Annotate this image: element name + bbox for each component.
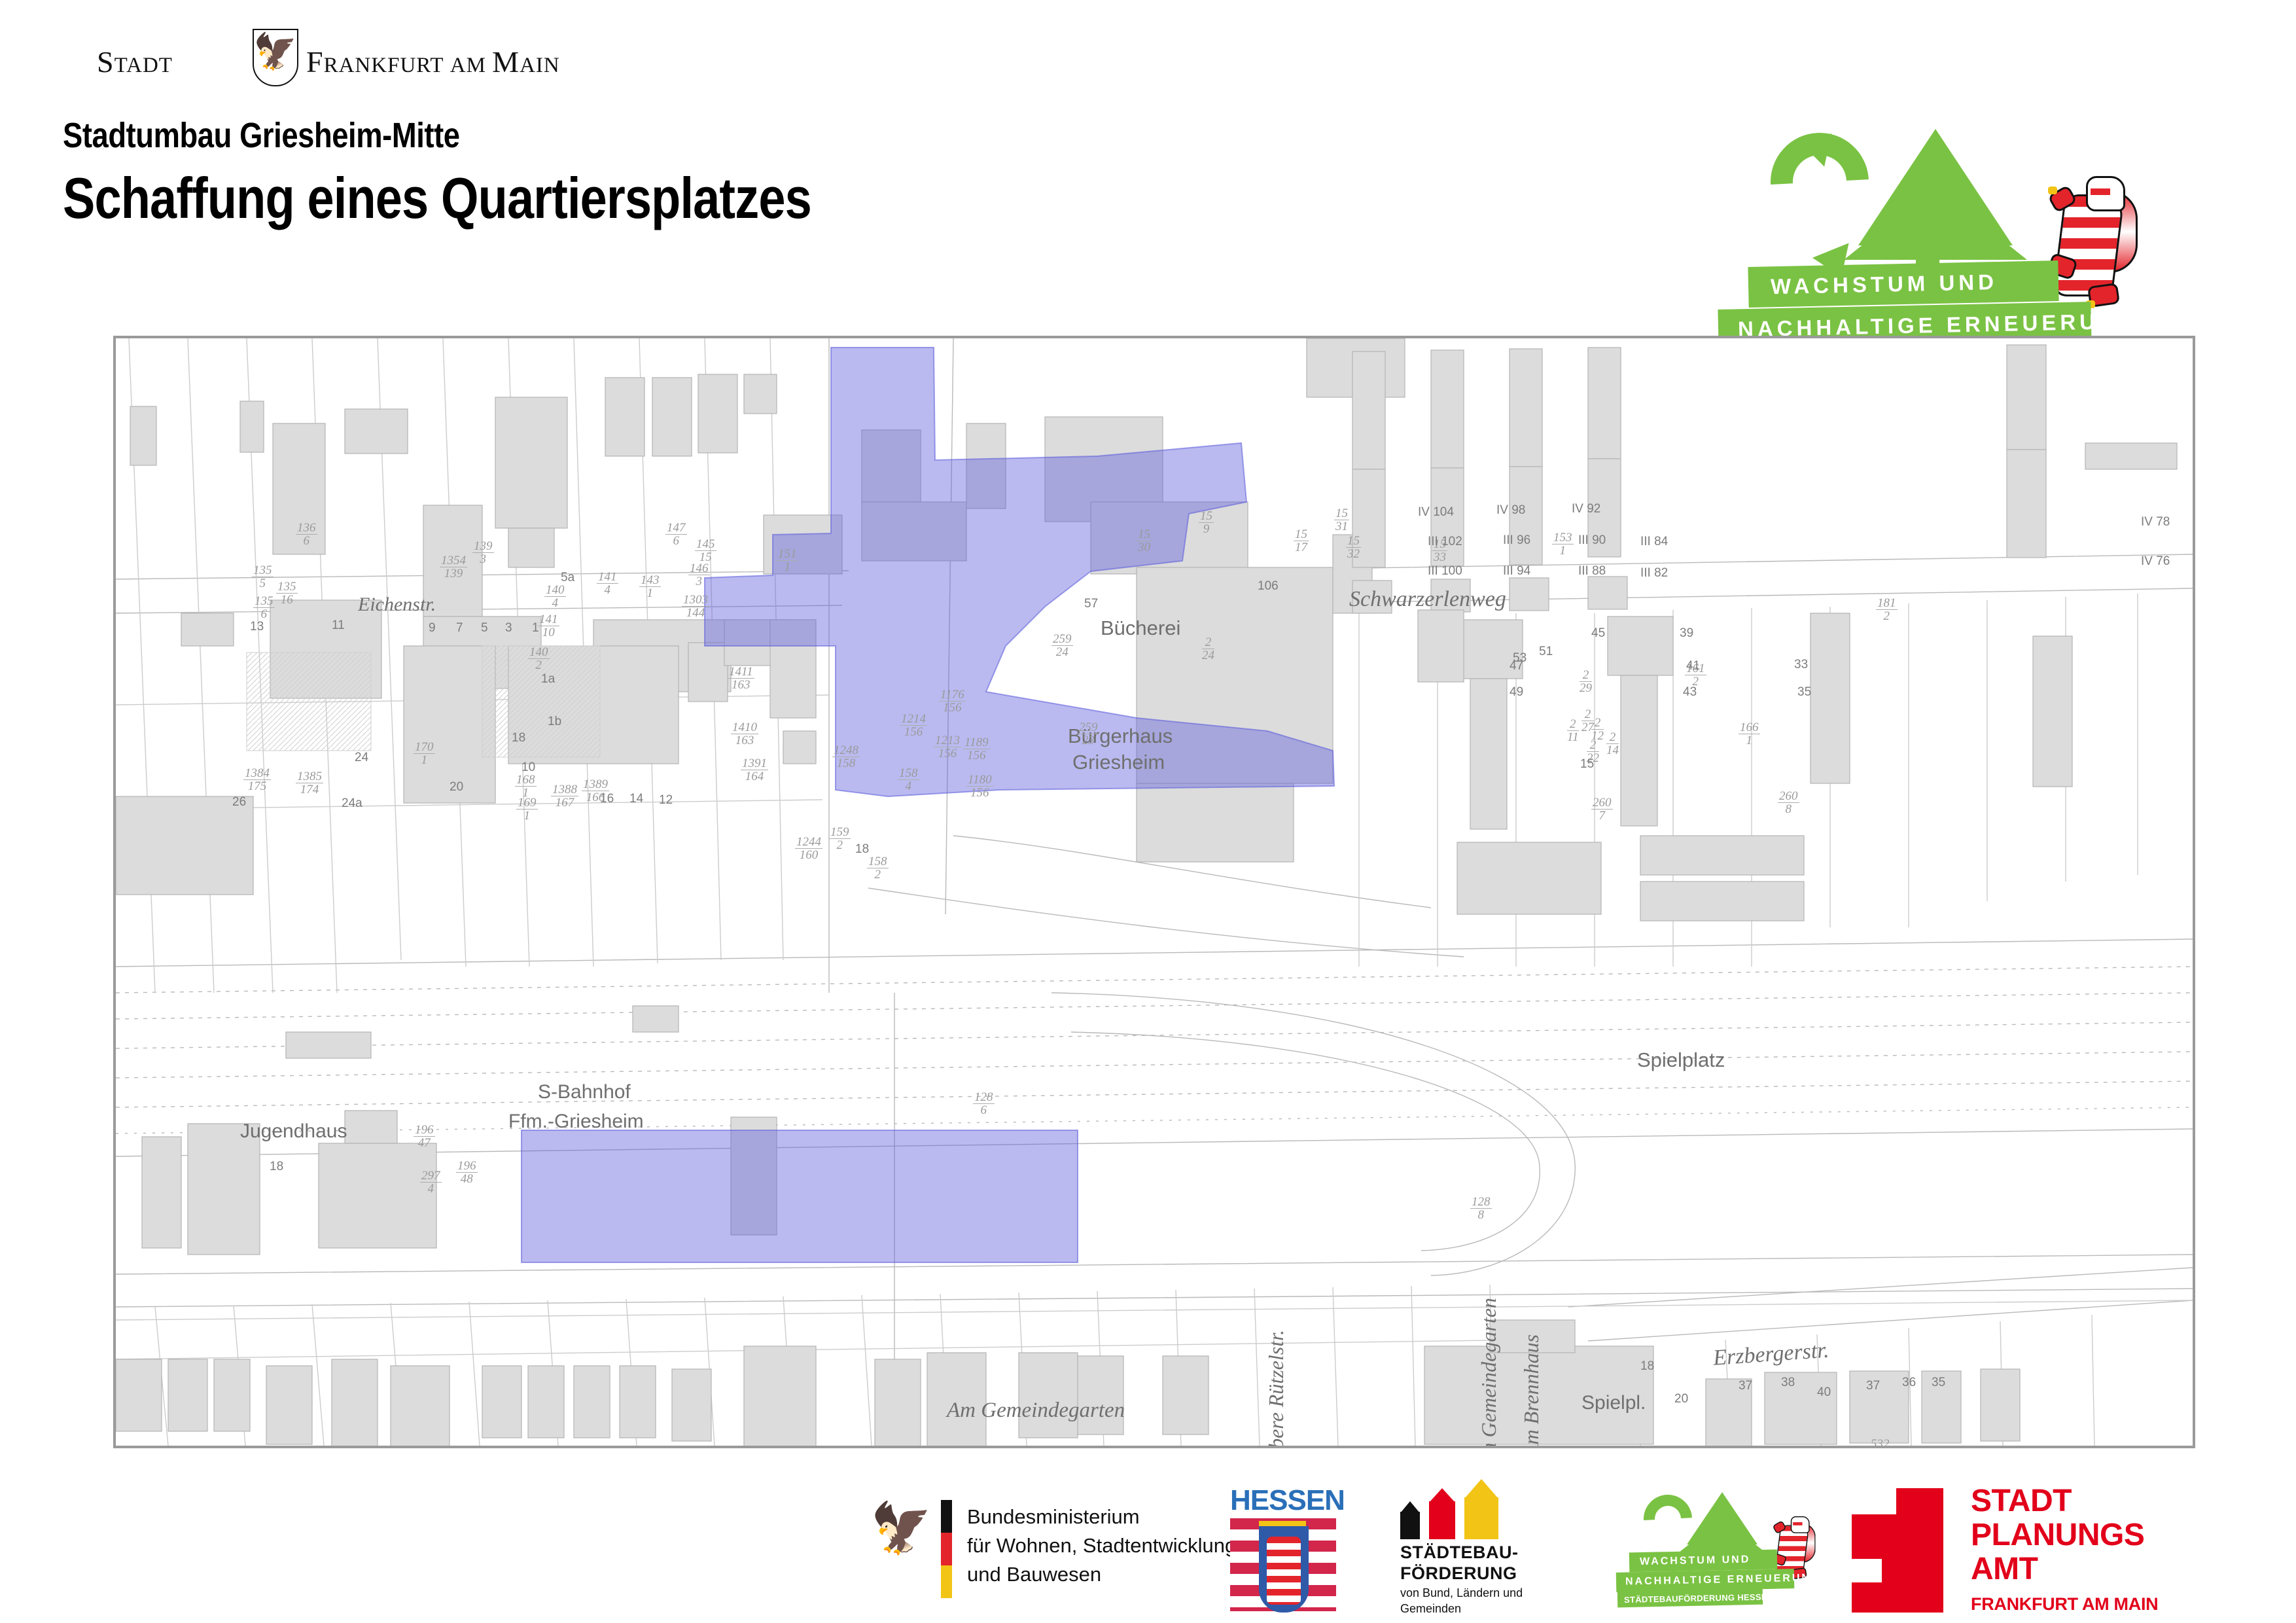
- map-vector-layer: [116, 338, 2193, 1446]
- parcel-number: 1388167: [551, 783, 578, 809]
- house-number: 7: [456, 621, 463, 635]
- parcel-number: 1391164: [741, 757, 768, 783]
- spa-subtitle: FRANKFURT AM MAIN: [1971, 1594, 2158, 1614]
- house-number: 12: [659, 793, 673, 808]
- hessen-shield-inner: [1259, 1526, 1309, 1613]
- house-number: 11: [332, 618, 345, 633]
- house-number: 49: [1510, 685, 1523, 700]
- staedtebau-sub-1: von Bund, Ländern und: [1400, 1586, 1523, 1599]
- staedtebau-line-2: FÖRDERUNG: [1400, 1563, 1517, 1583]
- parcel-number: 1176156: [939, 688, 966, 714]
- tree-upper-icon: [1858, 129, 2013, 245]
- parcel-number: 1531: [1334, 507, 1349, 533]
- stadt-frankfurt-logo: STADT 🦅 FRANKFURT AM MAIN: [97, 34, 516, 80]
- staedtebau-sub-2: Gemeinden: [1400, 1602, 1461, 1615]
- parcel-number: 2608: [1778, 790, 1799, 815]
- title-block: Stadtumbau Griesheim-Mitte Schaffung ein…: [63, 115, 954, 232]
- spa-line-1: STADT: [1971, 1484, 2144, 1518]
- parcel-number: 1411163: [728, 666, 754, 691]
- parcel-number: 1530: [1137, 528, 1152, 554]
- badge-line-1: WACHSTUM UND: [1748, 260, 2058, 308]
- house-number: IV 92: [1572, 502, 1600, 516]
- house-number: III 90: [1578, 533, 1606, 548]
- parcel-number: 1463: [688, 562, 710, 588]
- house-number: 20: [450, 780, 463, 794]
- house-number: III 84: [1640, 535, 1668, 549]
- parcel-number: 1189156: [963, 736, 990, 762]
- footer-logo-strip: 🦅 Bundesministerium für Wohnen, Stadtent…: [0, 1472, 2296, 1623]
- stadtplanungsamt-mark-icon: [1852, 1488, 1943, 1613]
- house-number: 40: [1817, 1385, 1831, 1400]
- house-number: 57: [1084, 597, 1098, 611]
- house-number: 36: [1902, 1376, 1916, 1390]
- parcel-number: 17: [1627, 1444, 1636, 1448]
- staedtebau-line-1: STÄDTEBAU-: [1400, 1543, 1519, 1562]
- parcel-number: 229: [1580, 669, 1592, 694]
- wachstum-small-line-3: STÄDTEBAUFÖRDERUNG HESSEN: [1617, 1589, 1763, 1608]
- page-title: Schaffung eines Quartiersplatzes: [63, 165, 811, 232]
- house-number: 18: [855, 842, 869, 857]
- bmwsb-line-3: und Bauwesen: [967, 1560, 1236, 1589]
- parcel-number: 214: [1606, 731, 1619, 757]
- house-number: III 100: [1428, 564, 1462, 579]
- parcel-number: 53243: [1869, 1438, 1891, 1448]
- parcel-number: 1214156: [900, 713, 927, 738]
- house-number: 33: [1794, 658, 1808, 672]
- house-number: 13: [250, 620, 264, 634]
- house-number: IV 98: [1496, 503, 1525, 518]
- stadtplanungsamt-logo: STADT PLANUNGS AMT FRANKFURT AM MAIN: [1852, 1484, 2192, 1615]
- hessen-lion-small-icon: [1267, 1537, 1301, 1605]
- parcel-number: 1404: [544, 584, 566, 609]
- parcel-number: 1517: [1294, 528, 1309, 554]
- three-houses-icon: [1400, 1487, 1538, 1539]
- bundesministerium-logo: 🦅 Bundesministerium für Wohnen, Stadtent…: [870, 1486, 1178, 1610]
- parcel-number: 1582: [867, 855, 889, 881]
- parcel-number: 1410163: [731, 721, 758, 747]
- parcel-number: 1691: [516, 796, 538, 822]
- house-number: 43: [1683, 685, 1697, 700]
- house-number: 38: [1781, 1376, 1795, 1390]
- house-number: 18: [1640, 1359, 1654, 1374]
- parcel-number: 1402: [528, 646, 550, 671]
- house-number: IV 104: [1418, 505, 1454, 520]
- parcel-number: 224: [1202, 636, 1214, 662]
- house-number: III 82: [1640, 566, 1668, 580]
- house-number: 37: [1866, 1379, 1880, 1393]
- parcel-number: 159: [1199, 510, 1214, 535]
- parcel-number: 1414: [597, 571, 618, 596]
- parcel-number: 14110: [538, 613, 559, 639]
- house-number: 1a: [541, 672, 555, 687]
- house-number: 24: [355, 751, 368, 765]
- parcel-number: 211: [1567, 718, 1579, 743]
- house-number: 10: [521, 760, 535, 775]
- house-number: IV 76: [2141, 554, 2170, 569]
- parcel-number: 1431: [639, 574, 661, 599]
- parcel-number: 1244160: [795, 836, 822, 861]
- parcel-number: 1701: [414, 741, 435, 766]
- parcel-number: 19647: [414, 1124, 435, 1149]
- house-number: 24a: [342, 796, 362, 811]
- spa-line-2: PLANUNGS: [1971, 1518, 2144, 1552]
- house-number: 106: [1258, 579, 1279, 594]
- hessen-lion-icon: [2047, 172, 2145, 323]
- parcel-number: 1366: [296, 522, 317, 547]
- parcel-number: 1661: [1739, 721, 1760, 747]
- parcel-number: 1356: [253, 595, 275, 620]
- parcel-number: 14515: [695, 538, 716, 563]
- page-header: STADT 🦅 FRANKFURT AM MAIN Stadtumbau Gri…: [0, 0, 2296, 308]
- house-number: 51: [1539, 645, 1553, 659]
- parcel-number: 1511: [777, 548, 798, 573]
- house-number: 41: [1686, 659, 1700, 673]
- parcel-number: 1532: [1346, 535, 1361, 560]
- cadastral-map[interactable]: Eichenstr.SchwarzerlenwegErzbergerstr.Am…: [113, 336, 2195, 1448]
- parcel-number: 2974: [420, 1169, 442, 1195]
- house-number: III 88: [1578, 564, 1606, 579]
- house-number: III 94: [1503, 564, 1530, 579]
- parcel-number: 1355: [252, 564, 274, 590]
- parcel-number: 19648: [456, 1160, 478, 1185]
- bmwsb-line-1: Bundesministerium: [967, 1503, 1236, 1531]
- hessen-wordmark: HESSEN: [1230, 1484, 1348, 1517]
- house-number: 47: [1510, 659, 1523, 673]
- house-number: 16: [600, 792, 614, 806]
- house-number: 1: [532, 621, 539, 635]
- house-number: 18: [270, 1160, 283, 1174]
- house-number: 5a: [561, 571, 574, 585]
- parcel-number: 1180156: [966, 774, 993, 799]
- house-number: 9: [429, 621, 436, 635]
- staedtebaufoerderung-logo: STÄDTEBAU- FÖRDERUNG von Bund, Ländern u…: [1400, 1487, 1570, 1618]
- parcel-number: 1812: [1876, 597, 1898, 622]
- house-number: III 96: [1503, 533, 1530, 548]
- frankfurt-eagle-crest-icon: 🦅: [253, 29, 298, 86]
- parcel-number: 1385174: [296, 770, 323, 796]
- project-subtitle: Stadtumbau Griesheim-Mitte: [63, 115, 811, 156]
- parcel-number: 1531: [1552, 531, 1574, 557]
- house-number: IV 78: [2141, 515, 2170, 529]
- parcel-number: 1592: [829, 826, 851, 851]
- parcel-number: 1584: [898, 767, 919, 793]
- bmwsb-line-2: für Wohnen, Stadtentwicklung: [967, 1531, 1236, 1560]
- house-number: 5: [481, 621, 488, 635]
- parcel-number: 1303144: [682, 594, 709, 619]
- parcel-number: 1248158: [832, 744, 860, 770]
- house-number: 35: [1932, 1376, 1945, 1390]
- logo-word-stadt: STADT: [97, 45, 173, 79]
- house-number: 45: [1591, 626, 1605, 641]
- house-number: III 102: [1428, 535, 1462, 549]
- parcel-number: 1393: [472, 540, 494, 565]
- spa-line-3: AMT: [1971, 1552, 2144, 1586]
- german-flag-bar-icon: [941, 1500, 952, 1598]
- parcel-number: 13516: [276, 580, 298, 606]
- house-number: 37: [1739, 1379, 1752, 1393]
- house-number: 39: [1680, 626, 1693, 641]
- house-number: 15: [1580, 757, 1594, 772]
- house-number: 35: [1797, 685, 1811, 700]
- house-number: 20: [1674, 1392, 1688, 1406]
- parcel-number: 1286: [973, 1091, 995, 1116]
- bundesadler-icon: 🦅: [870, 1504, 932, 1554]
- parcel-number: 2607: [1591, 796, 1613, 822]
- parcel-number: 25924: [1051, 633, 1073, 658]
- parcel-number: 1288: [1470, 1196, 1492, 1221]
- wachstum-small-line-2: NACHHALTIGE ERNEUERUNG: [1616, 1569, 1795, 1592]
- house-number: 1b: [548, 715, 561, 729]
- wachstum-logo-small: WACHSTUM UND NACHHALTIGE ERNEUERUNG STÄD…: [1616, 1491, 1806, 1609]
- parcel-number: 1213156: [934, 734, 961, 760]
- hessen-logo: HESSEN: [1230, 1484, 1348, 1612]
- parcel-number: 25923: [1078, 721, 1099, 747]
- wachstum-small-line-1: WACHSTUM UND: [1629, 1550, 1778, 1573]
- house-number: 18: [512, 731, 525, 745]
- house-number: 3: [505, 621, 512, 635]
- house-number: 14: [629, 792, 643, 806]
- parcel-number: 1354139: [440, 554, 467, 580]
- house-number: 26: [232, 795, 246, 810]
- tree-upper-small-icon: [1687, 1492, 1757, 1544]
- parcel-number: 1476: [665, 522, 687, 547]
- parcel-number: 1384175: [243, 767, 271, 793]
- logo-word-frankfurt: FRANKFURT AM MAIN: [306, 45, 560, 79]
